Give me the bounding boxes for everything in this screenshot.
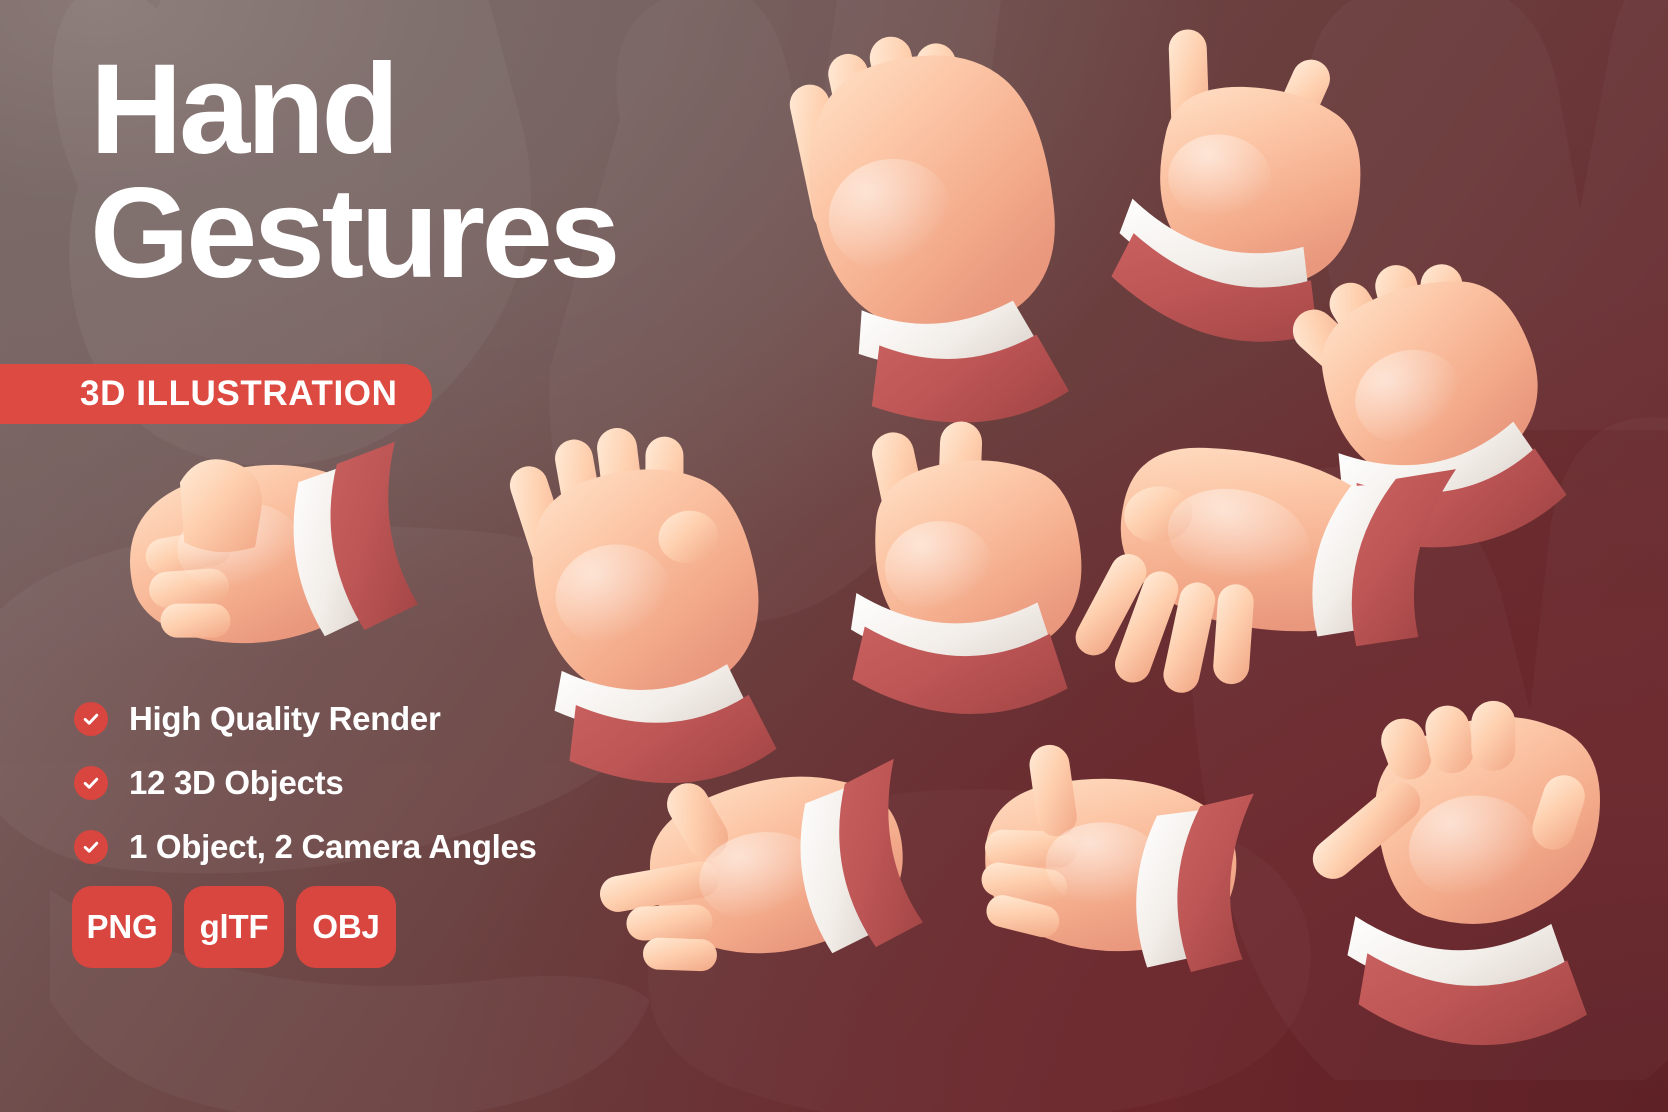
title-line-1: Hand <box>90 48 850 172</box>
illustration-type-badge: 3D ILLUSTRATION <box>0 364 432 424</box>
format-tag-list: PNG glTF OBJ <box>72 886 396 968</box>
pinch-grab-hand <box>1285 250 1575 540</box>
shaka-hand <box>1305 700 1595 1000</box>
list-item: 1 Object, 2 Camera Angles <box>74 828 694 866</box>
check-icon <box>74 766 108 800</box>
format-tag-label: glTF <box>200 908 269 946</box>
ghost-hand-shape <box>620 700 1320 1112</box>
list-item: 12 3D Objects <box>74 764 694 802</box>
format-tag-png: PNG <box>72 886 172 968</box>
list-item: High Quality Render <box>74 700 694 738</box>
rock-horns-hand <box>1100 30 1360 330</box>
ghost-hand-shape <box>1150 380 1668 1080</box>
check-icon <box>74 830 108 864</box>
format-tag-label: OBJ <box>312 908 379 946</box>
format-tag-label: PNG <box>87 908 158 946</box>
thumbs-up-hand <box>110 440 420 670</box>
format-tag-obj: OBJ <box>296 886 396 968</box>
peace-sign-hand <box>820 410 1090 700</box>
feature-label: 1 Object, 2 Camera Angles <box>129 828 537 866</box>
title-line-2: Gestures <box>90 172 850 296</box>
ghost-hand-shape <box>1250 0 1668 430</box>
pointing-finger-hand <box>940 745 1240 1015</box>
format-tag-gltf: glTF <box>184 886 284 968</box>
page-title: Hand Gestures <box>90 48 850 296</box>
poster-canvas: Hand Gestures 3D ILLUSTRATION High Quali… <box>0 0 1668 1112</box>
feature-label: High Quality Render <box>129 700 441 738</box>
badge-label: 3D ILLUSTRATION <box>80 374 398 414</box>
feature-list: High Quality Render 12 3D Objects 1 Obje… <box>74 700 694 892</box>
check-icon <box>74 702 108 736</box>
palm-down-hand <box>1080 440 1400 710</box>
feature-label: 12 3D Objects <box>129 764 343 802</box>
